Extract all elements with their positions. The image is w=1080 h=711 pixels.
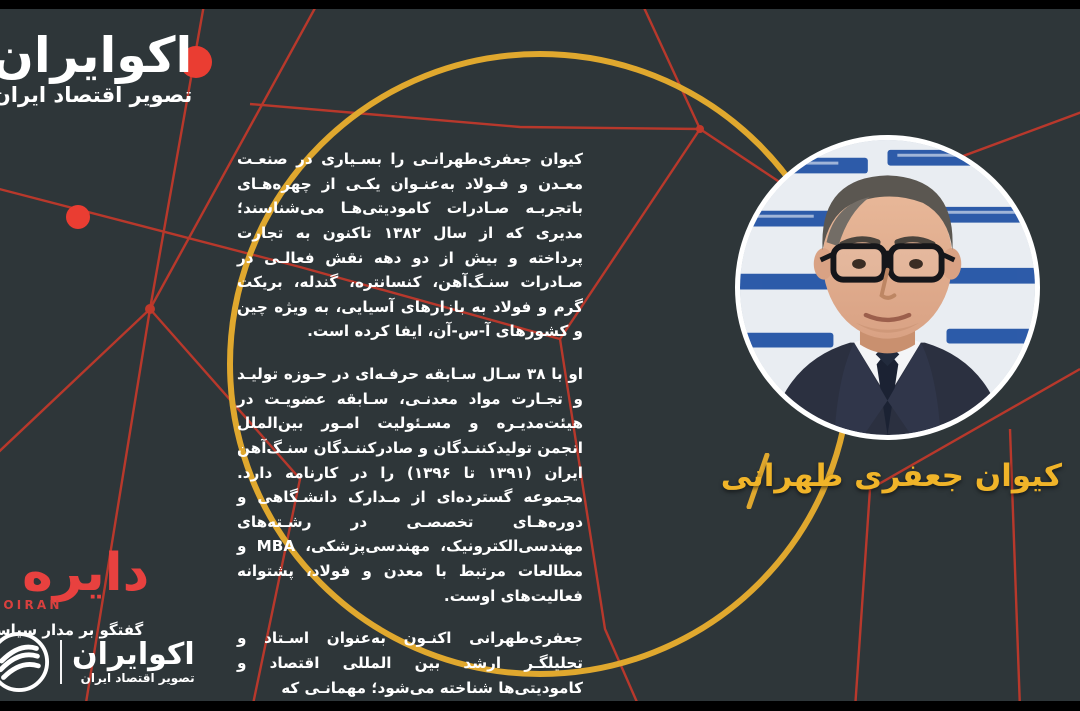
paragraph-3: جعفری‌طهرانی اکنـون به‌عنوان اسـتاد و تح… [237,626,583,700]
brand-bottom: دایره ECOIRAN گفتگو بر مدار سیاست [0,550,149,639]
network-node [696,125,704,133]
brand-top-name: اکوایران [0,33,192,80]
letterbox-top [0,0,1080,9]
brand-top: اکوایران تصویر اقتصاد ایران [0,33,192,107]
video-frame: اکوایران تصویر اقتصاد ایران کیوان جعفری‌… [0,0,1080,711]
paragraph-2: او با ۳۸ سـال سـابقه حرفـه‌ای در حـوزه ت… [237,362,583,608]
ecoiran-globe-icon [0,631,50,693]
network-node [66,205,90,229]
portrait-illustration [740,140,1035,435]
slide-canvas: اکوایران تصویر اقتصاد ایران کیوان جعفری‌… [0,9,1080,701]
bug-divider [60,640,62,684]
channel-bug: اکوایران تصویر اقتصاد ایران [0,631,195,693]
guest-name: کیوان جعفری طهرانی [721,458,1062,494]
network-node [145,304,155,314]
paragraph-1: کیوان جعفری‌طهرانـی را بسـیاری در صنعـت … [237,147,583,344]
letterbox-bottom [0,701,1080,711]
channel-name-block: اکوایران تصویر اقتصاد ایران [72,640,195,684]
biography-text-block: کیوان جعفری‌طهرانـی را بسـیاری در صنعـت … [237,147,583,701]
show-logo-text: دایره [0,550,149,597]
brand-top-tagline: تصویر اقتصاد ایران [0,83,192,107]
guest-portrait [735,135,1040,440]
channel-sub: تصویر اقتصاد ایران [72,672,195,684]
channel-name: اکوایران [72,637,195,672]
